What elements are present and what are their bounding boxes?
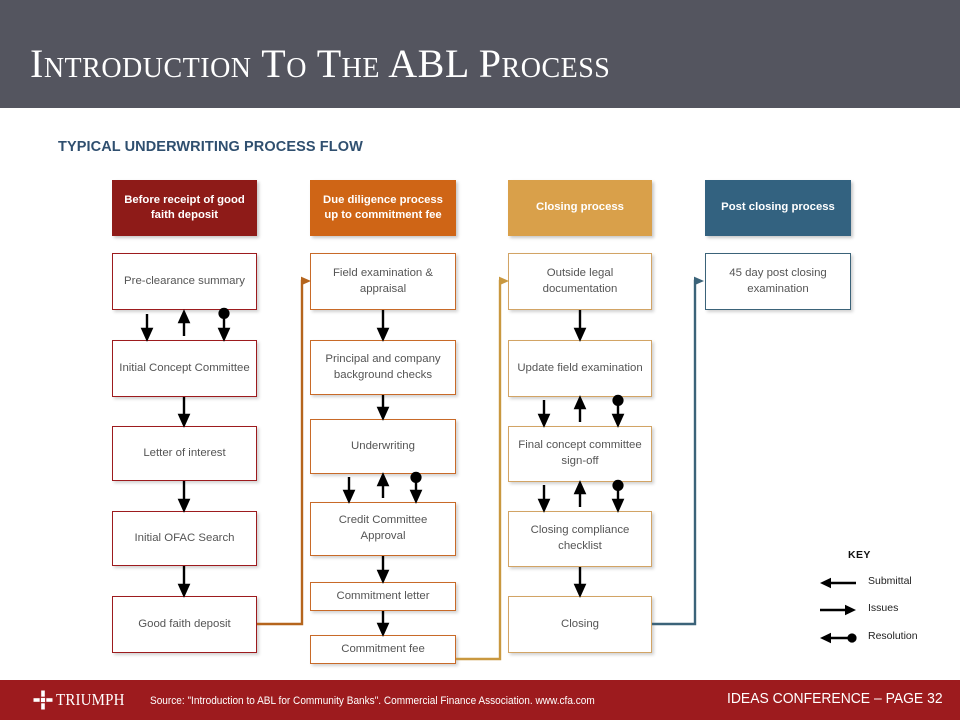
node-background-checks[interactable]: Principal and company background checks (310, 340, 456, 395)
section-subtitle: TYPICAL UNDERWRITING PROCESS FLOW (58, 139, 363, 155)
arrow-cluster-col3-a (508, 397, 653, 426)
phase-header-post-closing[interactable]: Post closing process (705, 180, 851, 236)
phase-header-before-receipt[interactable]: Before receipt of good faith deposit (112, 180, 257, 236)
arrow-down-col2-d (310, 611, 456, 635)
key-item-issues: Issues (818, 602, 948, 618)
brand-name: TRIUMPH (56, 690, 125, 710)
phase-header-due-diligence[interactable]: Due diligence process up to commitment f… (310, 180, 456, 236)
arrow-down-col1-c (112, 481, 258, 511)
arrow-down-col1-d (112, 566, 258, 596)
arrow-down-col1-b (112, 397, 258, 426)
key-item-submittal: Submittal (818, 575, 948, 591)
key-label-issues: Issues (868, 602, 898, 614)
triumph-cross-icon (33, 690, 53, 710)
node-closing[interactable]: Closing (508, 596, 652, 653)
key-item-resolution: Resolution (818, 630, 948, 646)
node-field-examination-appraisal[interactable]: Field examination & appraisal (310, 253, 456, 310)
arrow-cluster-col1 (112, 310, 258, 340)
node-initial-concept-committee[interactable]: Initial Concept Committee (112, 340, 257, 397)
key-title: KEY (848, 549, 871, 561)
node-underwriting[interactable]: Underwriting (310, 419, 456, 474)
node-outside-legal-documentation[interactable]: Outside legal documentation (508, 253, 652, 310)
arrow-down-col3-a (508, 310, 653, 340)
page-label: IDEAS CONFERENCE – PAGE 32 (727, 691, 943, 707)
arrow-left-icon (818, 576, 858, 590)
key-label-submittal: Submittal (868, 575, 912, 587)
key-label-resolution: Resolution (868, 630, 918, 642)
node-good-faith-deposit[interactable]: Good faith deposit (112, 596, 257, 653)
node-45-day-post-closing-examination[interactable]: 45 day post closing examination (705, 253, 851, 310)
node-pre-clearance-summary[interactable]: Pre-clearance summary (112, 253, 257, 310)
arrow-cluster-col3-b (508, 482, 653, 511)
node-commitment-fee[interactable]: Commitment fee (310, 635, 456, 664)
page-title: Introduction To The ABL Process (30, 40, 610, 87)
arrow-down-col2-c (310, 556, 456, 582)
arrow-down-col2-b (310, 395, 456, 419)
arrow-right-icon (818, 603, 858, 617)
arrow-down-col3-c (508, 567, 653, 596)
source-citation: Source: "Introduction to ABL for Communi… (150, 695, 595, 707)
node-commitment-letter[interactable]: Commitment letter (310, 582, 456, 611)
node-credit-committee-approval[interactable]: Credit Committee Approval (310, 502, 456, 556)
slide-canvas: Introduction To The ABL Process TYPICAL … (0, 0, 960, 720)
connector-col1-to-col2 (255, 275, 315, 650)
connector-col3-to-col4 (650, 275, 710, 650)
arrow-down-col2-a (310, 310, 456, 340)
connector-col2-to-col3 (454, 275, 514, 670)
node-closing-compliance-checklist[interactable]: Closing compliance checklist (508, 511, 652, 567)
node-letter-of-interest[interactable]: Letter of interest (112, 426, 257, 481)
arrow-cluster-col2 (310, 474, 456, 502)
node-initial-ofac-search[interactable]: Initial OFAC Search (112, 511, 257, 566)
phase-header-closing[interactable]: Closing process (508, 180, 652, 236)
node-update-field-examination[interactable]: Update field examination (508, 340, 652, 397)
arrow-left-dot-icon (818, 631, 858, 645)
node-final-concept-committee-signoff[interactable]: Final concept committee sign-off (508, 426, 652, 482)
